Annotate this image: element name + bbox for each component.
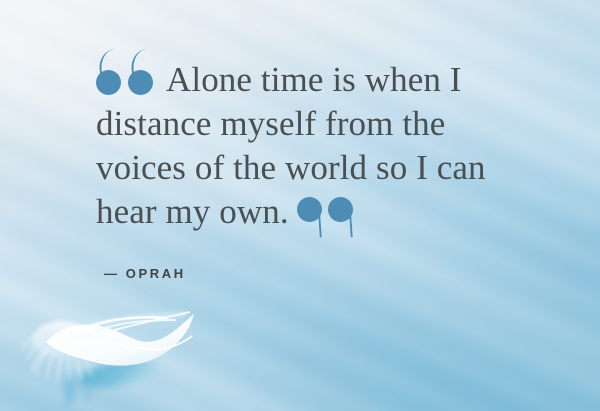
quote-text-line-4: hear my own. [96, 192, 289, 231]
quote-line-3: voices of the world so I can [96, 146, 516, 190]
quote-card: Alone time is when I distance myself fro… [0, 0, 600, 411]
quote-text-line-3: voices of the world so I can [96, 148, 486, 187]
quote-line-2: distance myself from the [96, 102, 516, 146]
opening-quote-dot-2 [128, 70, 153, 95]
quote-block: Alone time is when I distance myself fro… [96, 58, 516, 234]
opening-quote-dot-1 [96, 70, 121, 95]
quote-line-4: hear my own. [96, 190, 516, 234]
quote-text-line-2: distance myself from the [96, 104, 445, 143]
quote-line-1: Alone time is when I [96, 58, 516, 102]
closing-quote-mark [297, 197, 357, 231]
feather-illustration [18, 296, 218, 411]
feather-icon [18, 296, 218, 411]
attribution: — OPRAH [104, 266, 186, 281]
opening-quote-mark [96, 61, 158, 95]
quote-text-line-1: Alone time is when I [166, 60, 462, 99]
